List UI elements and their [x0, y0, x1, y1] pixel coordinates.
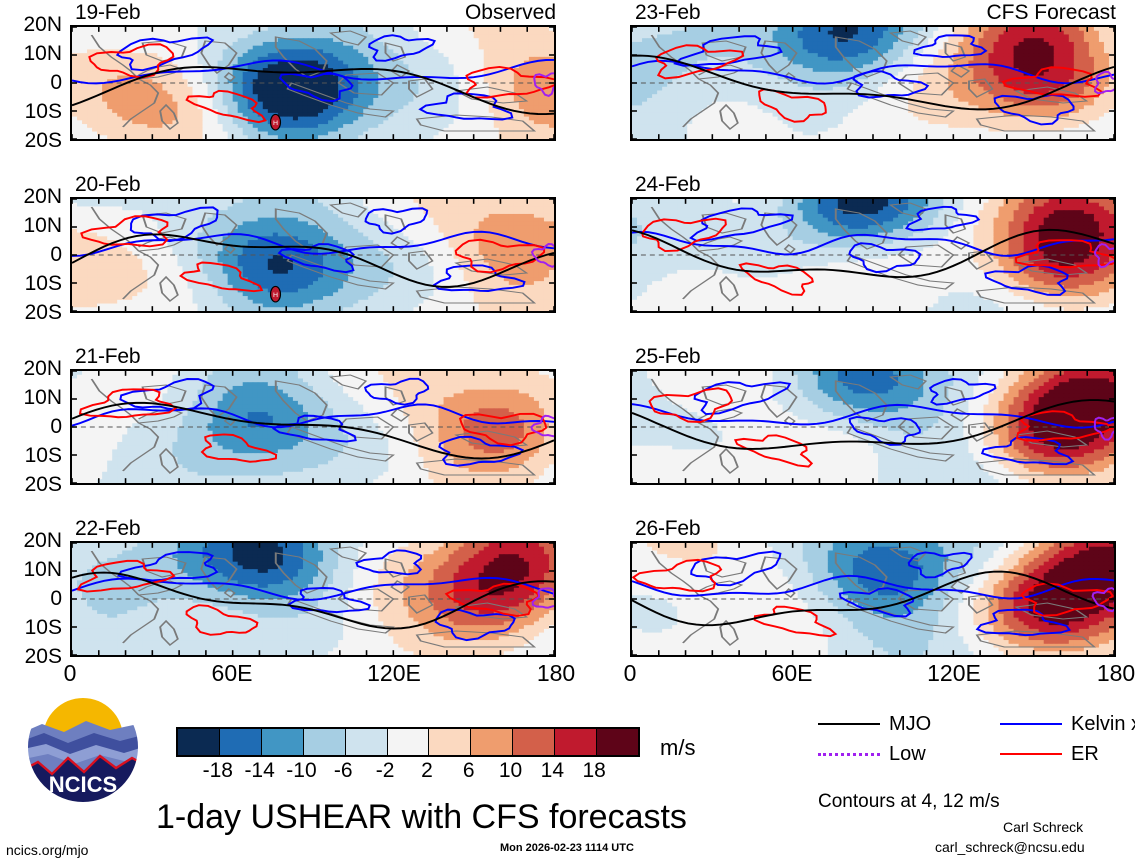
x-tick-label: 120E — [914, 662, 994, 685]
map-panel-26-feb — [630, 541, 1116, 657]
map-panel-24-feb — [630, 197, 1116, 313]
contour-interval-note: Contours at 4, 12 m/s — [818, 792, 1000, 811]
y-tick-label: 0 — [0, 72, 62, 93]
ncics-logo[interactable]: NCICS — [24, 688, 142, 806]
y-tick-label: 0 — [0, 416, 62, 437]
panel-date-label: 20-Feb — [75, 174, 140, 195]
y-tick-label: 20N — [0, 530, 62, 551]
x-tick-label: 120E — [354, 662, 434, 685]
y-tick-label: 10S — [0, 445, 62, 466]
svg-text:H: H — [273, 120, 278, 127]
x-tick-label: 60E — [752, 662, 832, 685]
y-tick-label: 10N — [0, 559, 62, 580]
x-tick-label: 180 — [1076, 662, 1135, 685]
legend-label: Kelvin x2 — [1071, 714, 1135, 734]
map-panel-22-feb — [70, 541, 556, 657]
colorbar-segment — [345, 729, 387, 755]
legend-line-swatch — [1000, 723, 1062, 725]
y-tick-label: 10N — [0, 387, 62, 408]
y-tick-label: 10S — [0, 617, 62, 638]
panel-date-label: 22-Feb — [75, 518, 140, 539]
map-panel-20-feb: H — [70, 197, 556, 313]
legend-label: ER — [1071, 744, 1099, 764]
colorbar-segment — [512, 729, 554, 755]
y-tick-label: 20S — [0, 302, 62, 323]
y-tick-label: 10S — [0, 101, 62, 122]
timestamp-label: Mon 2026-02-23 1114 UTC — [500, 843, 634, 854]
panel-field — [72, 543, 554, 655]
panel-date-label: 26-Feb — [635, 518, 700, 539]
map-panel-23-feb — [630, 25, 1116, 141]
x-tick-label: 0 — [590, 662, 670, 685]
map-panel-25-feb — [630, 369, 1116, 485]
legend-line-swatch — [818, 753, 880, 756]
y-tick-label: 10S — [0, 273, 62, 294]
panel-field — [632, 27, 1114, 139]
colorbar-segment — [219, 729, 261, 755]
panel-field: H — [72, 199, 554, 311]
page-title: 1-day USHEAR with CFS forecasts — [156, 800, 687, 834]
map-panel-19-feb: H — [70, 25, 556, 141]
panel-date-label: 21-Feb — [75, 346, 140, 367]
legend-line-swatch — [1000, 753, 1062, 755]
y-tick-label: 0 — [0, 588, 62, 609]
author-email-label[interactable]: carl_schreck@ncsu.edu — [935, 840, 1085, 854]
colorbar — [176, 727, 640, 757]
y-tick-label: 20S — [0, 474, 62, 495]
column-header-forecast: CFS Forecast — [630, 2, 1116, 23]
y-tick-label: 20N — [0, 186, 62, 207]
legend-label: MJO — [889, 714, 931, 734]
y-tick-label: 10N — [0, 43, 62, 64]
colorbar-segment — [178, 729, 219, 755]
x-tick-label: 60E — [192, 662, 272, 685]
legend-item-kelvin-x2: Kelvin x2 — [1000, 714, 1135, 734]
ncics-logo-graphic: NCICS — [24, 688, 142, 806]
y-tick-label: 10N — [0, 215, 62, 236]
x-tick-label: 0 — [30, 662, 110, 685]
colorbar-segment — [554, 729, 596, 755]
colorbar-segment — [596, 729, 638, 755]
colorbar-segment — [470, 729, 512, 755]
colorbar-segment — [261, 729, 303, 755]
author-name-label: Carl Schreck — [1003, 820, 1083, 834]
column-header-observed: Observed — [70, 2, 556, 23]
figure-root: H19-FebObservedH20-Feb21-Feb22-Feb23-Feb… — [0, 0, 1135, 860]
legend-line-swatch — [818, 723, 880, 725]
colorbar-units-label: m/s — [660, 737, 695, 759]
legend-item-low: Low — [818, 744, 926, 764]
map-panel-21-feb — [70, 369, 556, 485]
y-tick-label: 20S — [0, 130, 62, 151]
colorbar-segment — [303, 729, 345, 755]
legend-label: Low — [889, 744, 926, 764]
panel-field — [632, 199, 1114, 311]
y-tick-label: 0 — [0, 244, 62, 265]
ncics-logo-text: NCICS — [49, 772, 117, 797]
legend-item-er: ER — [1000, 744, 1099, 764]
panel-date-label: 24-Feb — [635, 174, 700, 195]
legend-item-mjo: MJO — [818, 714, 931, 734]
colorbar-tick-label: 18 — [564, 760, 624, 781]
y-tick-label: 20N — [0, 358, 62, 379]
panel-date-label: 25-Feb — [635, 346, 700, 367]
x-tick-label: 180 — [516, 662, 596, 685]
site-url-label[interactable]: ncics.org/mjo — [6, 843, 88, 857]
panel-field: H — [72, 27, 554, 139]
panel-field — [632, 543, 1114, 655]
colorbar-segment — [387, 729, 429, 755]
panel-field — [72, 371, 554, 483]
colorbar-segment — [428, 729, 470, 755]
panel-field — [632, 371, 1114, 483]
y-tick-label: 20N — [0, 14, 62, 35]
